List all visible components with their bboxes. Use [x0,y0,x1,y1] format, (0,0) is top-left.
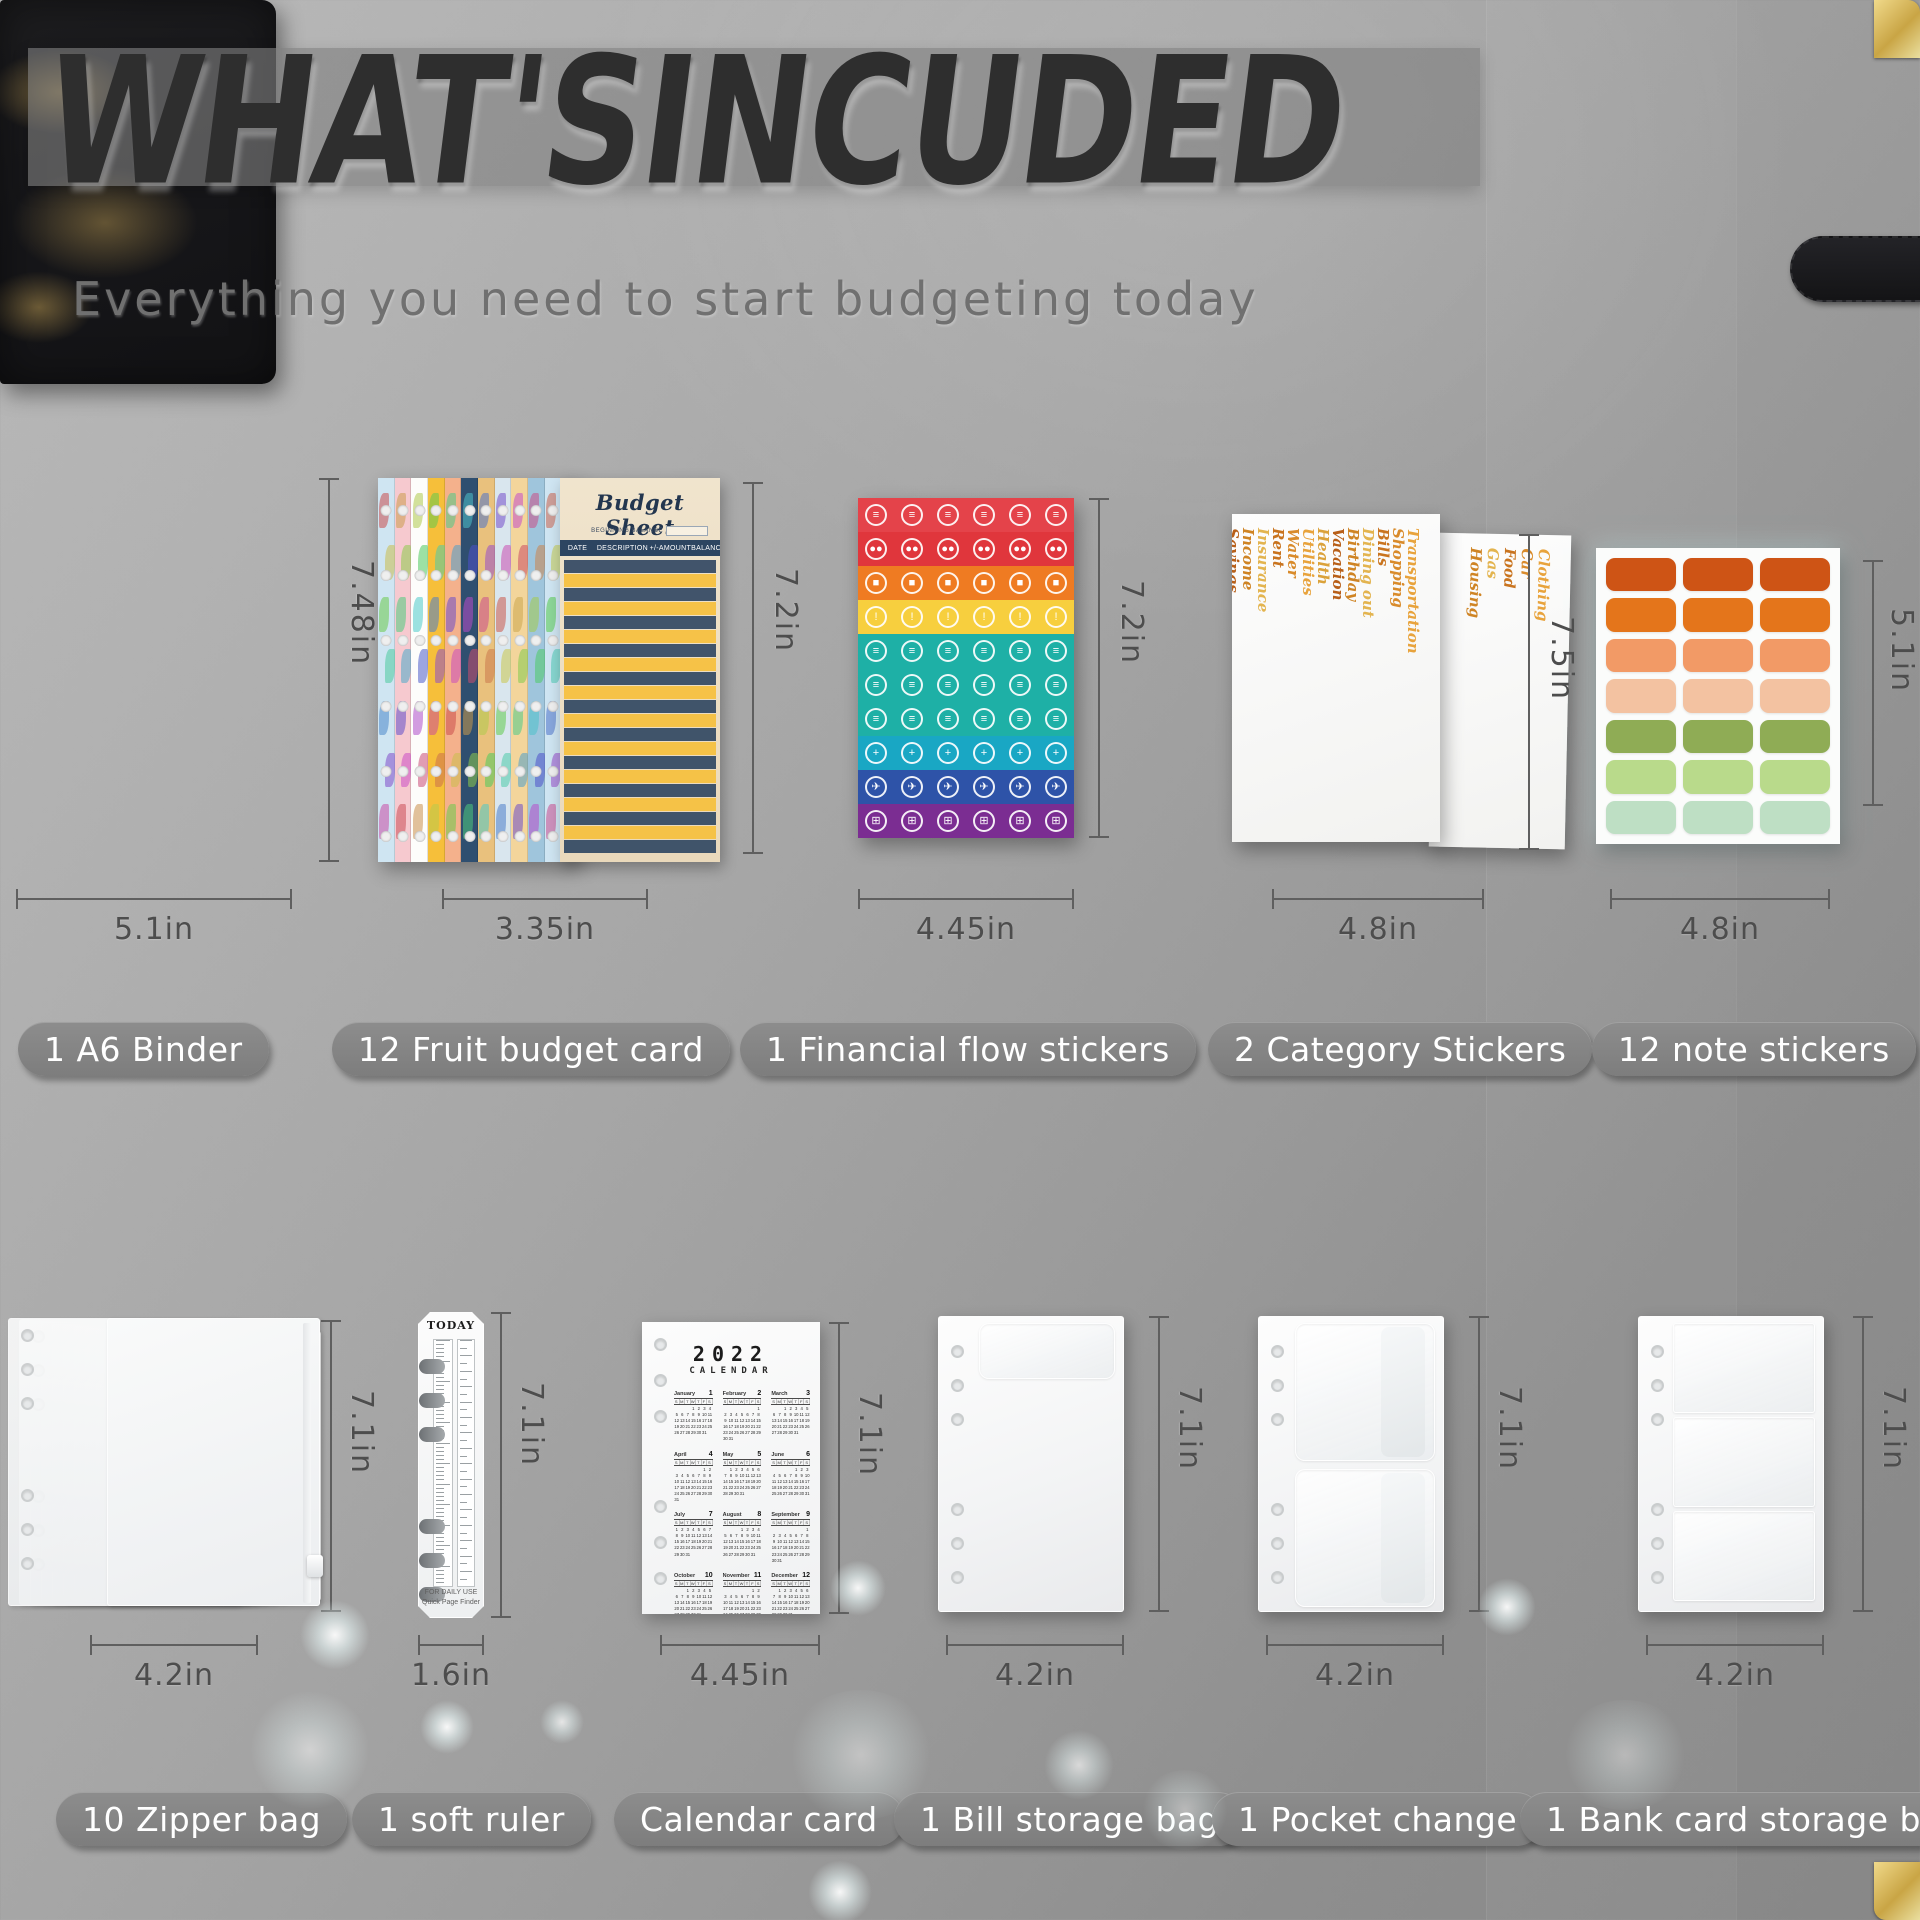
binder-ring-hole [1651,1537,1664,1550]
exclamation-icon[interactable]: ! [1009,606,1031,628]
category-sticker-word[interactable]: Clothing [1533,549,1553,622]
banknote-icon[interactable]: ≡ [973,640,995,662]
ruler-tick [436,1389,444,1390]
ruler-tick [460,1463,472,1464]
banknote-icon[interactable]: ≡ [865,708,887,730]
banknote-icon[interactable]: ≡ [1045,640,1067,662]
plus-icon[interactable]: + [901,742,923,764]
note-sticker-chip[interactable] [1606,720,1676,753]
dim-line-cards-height [752,482,754,854]
binder-ring-hole [951,1379,964,1392]
coffee-cup-icon[interactable]: ■ [1045,572,1067,594]
flow-sticker-band: !!!!!! [858,600,1074,634]
bank-card-slot-3[interactable] [1673,1511,1815,1601]
fruit-card-slice [428,478,445,862]
banknote-icon[interactable]: ≡ [937,504,959,526]
dim-label-bill-width: 4.2in [946,1658,1124,1693]
banknote-icon[interactable]: ≡ [901,504,923,526]
calendar-dow: S [707,1581,713,1586]
note-sticker-chip[interactable] [1760,598,1830,631]
binder-ring-hole [381,831,392,842]
ruler-foot-line-2: Quick Page Finder [422,1599,480,1606]
binder-ring-hole [654,1410,667,1423]
budget-sheet-row [564,798,716,811]
banknote-icon[interactable]: ≡ [901,640,923,662]
banknote-icon[interactable]: ≡ [865,674,887,696]
calendar-month: March3SMTWTFS123456789101112131415161718… [771,1390,810,1443]
exclamation-icon[interactable]: ! [937,606,959,628]
budget-sheet-row [564,574,716,587]
ruler-tick [436,1340,450,1341]
calendar-day: 26 [804,1424,810,1430]
ruler-page-tab[interactable] [419,1519,445,1534]
product-image-bill-storage-bag [938,1316,1124,1612]
ruler-tick [436,1414,444,1415]
product-label-calendar-card[interactable]: Calendar card [614,1792,904,1846]
product-label-zipper-bag[interactable]: 10 Zipper bag [56,1792,347,1846]
hero-header: WHAT'SINCUDED Everything you need to sta… [0,0,1920,360]
dim-label-binder-height: 7.48in [344,560,379,666]
bank-card-slot-2[interactable] [1673,1417,1815,1507]
budget-sheet-row [564,630,716,643]
ruler-tick [460,1363,467,1364]
ruler-tick [436,1578,444,1579]
binder-ring-hole [1651,1571,1664,1584]
fruit-card-slice [528,478,545,862]
calendar-dow-row: SMTWTFS [723,1459,762,1466]
calendar-month-number: 9 [806,1511,810,1518]
calendar-day: 31 [728,1436,734,1442]
note-sticker-chip[interactable] [1606,558,1676,591]
plus-icon[interactable]: + [973,742,995,764]
budget-sheet-row [564,588,716,601]
product-label-note-stickers[interactable]: 12 note stickers [1592,1022,1916,1076]
dim-line-bill-width [946,1644,1124,1646]
calendar-month-number: 5 [757,1451,761,1458]
bill-pocket[interactable] [979,1323,1115,1379]
dim-label-category-width: 4.8in [1272,912,1484,947]
dim-line-bill-height [1158,1316,1160,1612]
fruit-motif [463,597,473,632]
budget-sheet-row [564,812,716,825]
exclamation-icon[interactable]: ! [901,606,923,628]
binder-ring-hole [397,570,408,581]
dim-label-calendar-width: 4.45in [650,1658,830,1693]
exclamation-icon[interactable]: ! [973,606,995,628]
fruit-motif [513,597,523,632]
category-sticker-word[interactable]: Gas [1483,548,1502,579]
binder-ring-hole [447,570,458,581]
budget-sheet-row [564,644,716,657]
note-sticker-chip[interactable] [1683,720,1753,753]
banknote-icon[interactable]: ≡ [1045,504,1067,526]
budget-sheet-row [564,826,716,839]
ruler-tick [436,1377,444,1378]
calendar-days-grid: 1234567891011121314151617181920212223242… [771,1527,810,1564]
airplane-icon[interactable]: ✈ [937,776,959,798]
banknote-icon[interactable]: ≡ [973,504,995,526]
calendar-month-number: 2 [757,1390,761,1397]
calendar-year: 2022 [642,1342,820,1366]
binder-ring-hole [431,505,442,516]
binder-ring-hole [481,505,492,516]
product-image-pocket-change [1258,1316,1444,1612]
ruler-page-tab[interactable] [419,1359,445,1374]
binder-ring-hole [547,635,558,646]
ruler-tick [436,1537,444,1538]
calendar-day: 31 [793,1430,799,1436]
binder-ring-hole [514,570,525,581]
gift-icon[interactable]: ⊞ [973,810,995,832]
binder-ring-hole [447,766,458,777]
calendar-month: September9SMTWTFS12345678910111213141516… [771,1511,810,1564]
ruler-tick [460,1486,467,1487]
dim-label-zipper-width: 4.2in [90,1658,258,1693]
ruler-page-tab[interactable] [419,1553,445,1568]
product-image-category-stickers-front: TransportationShoppingBillsDining outBir… [1232,514,1440,842]
binder-ring-hole [447,505,458,516]
calendar-month-header: August8 [723,1511,762,1518]
ruler-tick [436,1381,450,1382]
bank-card-slot-1[interactable] [1673,1323,1815,1413]
note-sticker-chip[interactable] [1683,639,1753,672]
calendar-day: 27 [756,1485,762,1491]
ruler-tick [460,1533,467,1534]
banknote-icon[interactable]: ≡ [865,640,887,662]
dim-line-calendar-height [838,1322,840,1614]
fruit-motif [501,649,511,684]
budget-sheet-row [564,784,716,797]
calendar-dow: S [707,1399,713,1404]
dim-label-bill-height: 7.1in [1172,1386,1207,1471]
ruler-tick [436,1516,444,1517]
ruler-tick [460,1355,472,1356]
binder-ring-hole [547,766,558,777]
ruler-scale-imperial [457,1339,475,1587]
calendar-dow-row: SMTWTFS [771,1580,810,1587]
flow-sticker-band: ⊞⊞⊞⊞⊞⊞ [858,804,1074,838]
fruit-card-slice [395,478,412,862]
binder-ring-hole [951,1345,964,1358]
calendar-day: 31 [702,1430,708,1436]
ruler-tick [436,1549,444,1550]
calendar-dow-row: SMTWTFS [674,1459,713,1466]
binder-ring-hole [21,1557,34,1570]
ruler-tick [460,1425,467,1426]
dim-label-category-height: 7.5in [1544,616,1579,701]
page-title: WHAT'SINCUDED [34,20,1356,225]
airplane-icon[interactable]: ✈ [901,776,923,798]
note-sticker-chip[interactable] [1606,598,1676,631]
binder-ring-hole [431,635,442,646]
budget-sheet-row [564,672,716,685]
budget-sheet-col-0: DATE [560,545,595,552]
calendar-day: 31 [685,1552,691,1558]
calendar-month-name: December [771,1573,798,1579]
gift-icon[interactable]: ⊞ [1009,810,1031,832]
ruler-tick [436,1447,444,1448]
ruler-tick [460,1409,467,1410]
ruler-scale-metric [433,1339,453,1587]
dim-line-ruler-height [500,1312,502,1618]
ruler-tick [436,1471,444,1472]
banknote-icon[interactable]: ≡ [1045,708,1067,730]
binder-ring-hole [547,701,558,712]
category-sticker-word[interactable]: Food [1500,548,1519,589]
exclamation-icon[interactable]: ! [1045,606,1067,628]
calendar-days-grid: 1234567891011121314151617181920212223242… [771,1467,810,1497]
calendar-dow-row: SMTWTFS [674,1398,713,1405]
calendar-day: 28 [707,1545,713,1551]
calendar-dow-row: SMTWTFS [771,1459,810,1466]
gift-icon[interactable]: ⊞ [901,810,923,832]
fruit-motif [401,649,411,684]
product-image-soft-ruler: TODAYFOR DAILY USEQuick Page Finder [418,1312,484,1618]
dim-label-cards-height: 7.2in [768,568,803,653]
binder-ring-hole [414,570,425,581]
banknote-icon[interactable]: ≡ [937,674,959,696]
airplane-icon[interactable]: ✈ [1009,776,1031,798]
ruler-tick [436,1475,444,1476]
flow-sticker-band: ✈✈✈✈✈✈ [858,770,1074,804]
dim-line-flow-height [1098,498,1100,838]
fruit-motif [429,597,439,632]
banknote-icon[interactable]: ≡ [901,674,923,696]
ruler-tick [460,1494,472,1495]
dim-line-zipper-width [90,1644,258,1646]
ruler-tick [460,1348,467,1349]
calendar-dow: S [804,1520,810,1525]
ruler-tick [436,1545,450,1546]
binder-ring-hole [397,635,408,646]
dim-line-bank-width [1646,1644,1824,1646]
ruler-tick [460,1509,472,1510]
calendar-dow-row: SMTWTFS [723,1580,762,1587]
banknote-icon[interactable]: ≡ [937,708,959,730]
ruler-tick [436,1496,444,1497]
coffee-cup-icon[interactable]: ■ [901,572,923,594]
banknote-icon[interactable]: ≡ [973,708,995,730]
note-sticker-chip[interactable] [1760,760,1830,793]
calendar-day: 29 [804,1552,810,1558]
gift-icon[interactable]: ⊞ [937,810,959,832]
banknote-icon[interactable]: ≡ [937,640,959,662]
calendar-dow: S [707,1520,713,1525]
calendar-dow: S [804,1460,810,1465]
product-label-pocket-change[interactable]: 1 Pocket change [1212,1792,1543,1846]
binder-ring-hole [381,505,392,516]
product-label-category-stickers[interactable]: 2 Category Stickers [1208,1022,1592,1076]
calendar-month-name: July [674,1512,685,1518]
banknote-icon[interactable]: ≡ [901,708,923,730]
note-sticker-chip[interactable] [1683,679,1753,712]
note-sticker-chip[interactable] [1760,639,1830,672]
note-sticker-chip[interactable] [1683,760,1753,793]
budget-sheet-row [564,840,716,853]
calendar-dow: S [756,1520,762,1525]
sunglasses-icon[interactable]: ●● [865,538,887,560]
ruler-page-tab[interactable] [419,1393,445,1408]
binder-ring-hole [497,570,508,581]
sunglasses-icon[interactable]: ●● [1045,538,1067,560]
calendar-month-name: August [723,1512,742,1518]
coffee-cup-icon[interactable]: ■ [937,572,959,594]
note-sticker-chip[interactable] [1760,679,1830,712]
gift-icon[interactable]: ⊞ [1045,810,1067,832]
dim-line-flow-width [858,898,1074,900]
fruit-card-slice [495,478,512,862]
ruler-tick [460,1386,472,1387]
calendar-month-number: 11 [754,1572,761,1579]
fruit-card-slice [511,478,528,862]
product-image-bank-card-storage-bag [1638,1316,1824,1612]
binder-ring-hole [951,1571,964,1584]
ruler-tick [460,1579,467,1580]
category-sticker-word[interactable]: Car [1517,548,1536,578]
banknote-icon[interactable]: ≡ [1009,504,1031,526]
gift-icon[interactable]: ⊞ [865,810,887,832]
budget-sheet-row [564,700,716,713]
coffee-cup-icon[interactable]: ■ [973,572,995,594]
banknote-icon[interactable]: ≡ [1009,674,1031,696]
calendar-month: November11SMTWTFS12345678910111213141516… [723,1572,762,1614]
calendar-month-name: October [674,1573,695,1579]
product-label-bill-storage-bag[interactable]: 1 Bill storage bag [894,1792,1245,1846]
ruler-tick [460,1548,467,1549]
budget-sheet-row [564,686,716,699]
binder-ring-hole [497,701,508,712]
ruler-page-tab[interactable] [419,1427,445,1442]
banknote-icon[interactable]: ≡ [865,504,887,526]
zipper-pull-tab[interactable] [307,1555,323,1577]
product-label-fruit-budget-card[interactable]: 12 Fruit budget card [332,1022,730,1076]
binder-ring-hole [464,766,475,777]
plus-icon[interactable]: + [1009,742,1031,764]
note-sticker-chip[interactable] [1760,720,1830,753]
binder-ring-hole [431,766,442,777]
banknote-icon[interactable]: ≡ [1009,640,1031,662]
dim-label-ruler-height: 7.1in [514,1382,549,1467]
binder-ring-hole [464,635,475,646]
category-sticker-word[interactable]: Housing [1466,547,1485,618]
binder-ring-hole [654,1572,667,1585]
note-sticker-chip[interactable] [1606,679,1676,712]
calendar-day: 30 [756,1612,762,1614]
dim-line-binder-width [16,898,292,900]
note-sticker-chip[interactable] [1683,801,1753,834]
binder-ring-hole [514,505,525,516]
calendar-day: 31 [804,1491,810,1497]
fruit-motif [496,597,506,632]
product-label-bank-card-storage-bag[interactable]: 1 Bank card storage bag [1520,1792,1920,1846]
binder-ring-hole [21,1397,34,1410]
binder-ring-hole [951,1537,964,1550]
binder-ring-hole [21,1363,34,1376]
coffee-cup-icon[interactable]: ■ [865,572,887,594]
budget-sheet-row [564,742,716,755]
note-sticker-chip[interactable] [1606,801,1676,834]
sunglasses-icon[interactable]: ●● [901,538,923,560]
banknote-icon[interactable]: ≡ [973,674,995,696]
fruit-card-slice [445,478,462,862]
calendar-month-number: 8 [757,1511,761,1518]
binder-ring-hole [481,831,492,842]
beginning-balance-label: BEGINNING BALANCE [591,528,663,534]
budget-sheet-column-headers: DATEDESCRIPTION+/-AMOUNTBALANCE [560,540,720,556]
note-sticker-chip[interactable] [1683,558,1753,591]
calendar-day: 31 [777,1558,783,1564]
binder-ring-hole [381,635,392,646]
plus-icon[interactable]: + [937,742,959,764]
zipper-bag-front [107,1318,320,1606]
product-label-a6-binder[interactable]: 1 A6 Binder [18,1022,269,1076]
calendar-dow: S [804,1399,810,1404]
binder-ring-hole [531,635,542,646]
note-sticker-chip[interactable] [1606,639,1676,672]
binder-ring-hole [464,570,475,581]
calendar-month-name: March [771,1391,787,1397]
ruler-tick [436,1467,444,1468]
sunglasses-icon[interactable]: ●● [1009,538,1031,560]
ruler-tick [460,1432,472,1433]
change-pocket-flap-top [1381,1327,1425,1457]
airplane-icon[interactable]: ✈ [973,776,995,798]
calendar-dow-row: SMTWTFS [723,1519,762,1526]
binder-ring-hole [654,1374,667,1387]
dim-label-flow-width: 4.45in [858,912,1074,947]
exclamation-icon[interactable]: ! [865,606,887,628]
calendar-month: June6SMTWTFS1234567891011121314151617181… [771,1451,810,1504]
fruit-motif [546,597,556,632]
binder-ring-hole [514,701,525,712]
note-sticker-chip[interactable] [1760,558,1830,591]
banknote-icon[interactable]: ≡ [1045,674,1067,696]
banknote-icon[interactable]: ≡ [1009,708,1031,730]
product-label-financial-flow-stickers[interactable]: 1 Financial flow stickers [740,1022,1196,1076]
calendar-day: 31 [674,1497,680,1503]
category-sticker-word[interactable]: Savings [1232,528,1242,593]
bokeh-glow-3 [420,1700,474,1754]
ruler-tick [436,1508,444,1509]
binder-ring-hole [654,1338,667,1351]
calendar-month-header: May5 [723,1451,762,1458]
ruler-tick [460,1540,472,1541]
airplane-icon[interactable]: ✈ [1045,776,1067,798]
calendar-day: 27 [804,1606,810,1612]
dim-line-ruler-width [418,1644,484,1646]
binder-ring-hole [431,570,442,581]
note-sticker-chip[interactable] [1683,598,1753,631]
ruler-tick [460,1502,467,1503]
fruit-motif [418,649,428,684]
note-sticker-chip[interactable] [1760,801,1830,834]
flow-sticker-band: ●●●●●●●●●●●● [858,532,1074,566]
sunglasses-icon[interactable]: ●● [973,538,995,560]
coffee-cup-icon[interactable]: ■ [1009,572,1031,594]
plus-icon[interactable]: + [865,742,887,764]
product-label-soft-ruler[interactable]: 1 soft ruler [352,1792,591,1846]
binder-ring-hole [531,570,542,581]
beginning-balance-input[interactable] [666,526,708,536]
airplane-icon[interactable]: ✈ [865,776,887,798]
plus-icon[interactable]: + [1045,742,1067,764]
fruit-card-slice [545,478,562,862]
sunglasses-icon[interactable]: ●● [937,538,959,560]
calendar-month-name: January [674,1391,695,1397]
note-sticker-chip[interactable] [1606,760,1676,793]
calendar-day: 25 [756,1545,762,1551]
ruler-tick [436,1410,444,1411]
